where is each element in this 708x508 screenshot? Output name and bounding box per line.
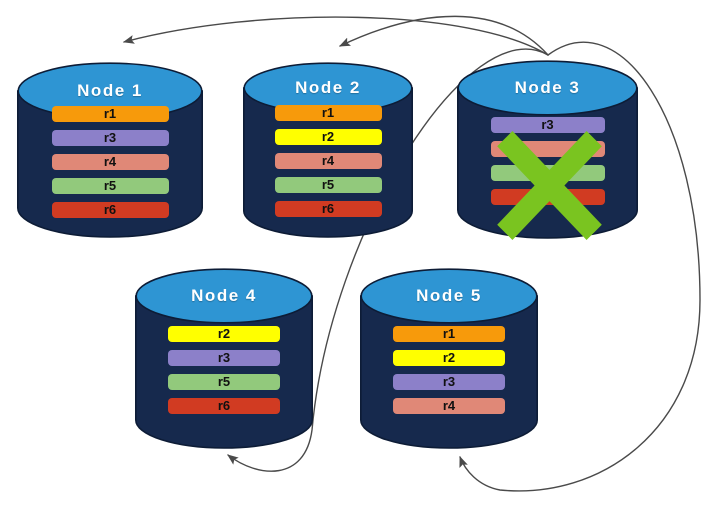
database-node-5[interactable]: Node 5r1r2r3r4	[360, 268, 538, 448]
record-label: r1	[104, 106, 116, 121]
record-label: r5	[104, 178, 116, 193]
node-title: Node 4	[135, 286, 313, 306]
record-label: r6	[218, 398, 230, 413]
record-label: r4	[322, 153, 334, 168]
record-bar[interactable]: r4	[275, 153, 382, 169]
record-label: r3	[443, 374, 455, 389]
record-label: r3	[541, 117, 553, 132]
record-bar[interactable]: r1	[393, 326, 505, 342]
record-bar[interactable]	[491, 189, 605, 205]
record-label: r2	[218, 326, 230, 341]
record-label: r2	[443, 350, 455, 365]
record-label: r6	[104, 202, 116, 217]
record-label: r1	[322, 105, 334, 120]
record-bar[interactable]: r2	[393, 350, 505, 366]
record-label: r2	[322, 129, 334, 144]
database-node-4[interactable]: Node 4r2r3r5r6	[135, 268, 313, 448]
record-bar[interactable]	[491, 165, 605, 181]
node-title: Node 1	[17, 81, 203, 101]
record-list: r1r3r4r5r6	[17, 106, 203, 218]
database-node-2[interactable]: Node 2r1r2r4r5r6	[243, 62, 413, 237]
record-bar[interactable]: r3	[168, 350, 280, 366]
record-label: r3	[218, 350, 230, 365]
record-label: r6	[322, 201, 334, 216]
database-node-1[interactable]: Node 1r1r3r4r5r6	[17, 62, 203, 237]
node-title: Node 3	[457, 78, 638, 98]
record-label: r5	[218, 374, 230, 389]
record-bar[interactable]: r3	[393, 374, 505, 390]
record-bar[interactable]: r5	[275, 177, 382, 193]
record-bar[interactable]: r5	[52, 178, 169, 194]
node-title: Node 5	[360, 286, 538, 306]
record-bar[interactable]: r1	[275, 105, 382, 121]
record-list: r1r2r4r5r6	[243, 105, 413, 217]
record-label: r5	[322, 177, 334, 192]
record-bar[interactable]: r2	[168, 326, 280, 342]
node-title: Node 2	[243, 78, 413, 98]
edge-node3-to-node1	[124, 17, 548, 55]
record-bar[interactable]: r6	[168, 398, 280, 414]
record-bar[interactable]: r2	[275, 129, 382, 145]
record-label: r3	[104, 130, 116, 145]
record-list: r3	[457, 117, 638, 205]
record-label: r1	[443, 326, 455, 341]
diagram-canvas: Node 1r1r3r4r5r6Node 2r1r2r4r5r6Node 3r3…	[0, 0, 708, 508]
record-bar[interactable]	[491, 141, 605, 157]
record-bar[interactable]: r3	[491, 117, 605, 133]
record-list: r1r2r3r4	[360, 326, 538, 414]
record-bar[interactable]: r4	[393, 398, 505, 414]
record-label: r4	[104, 154, 116, 169]
record-bar[interactable]: r1	[52, 106, 169, 122]
record-bar[interactable]: r4	[52, 154, 169, 170]
record-list: r2r3r5r6	[135, 326, 313, 414]
record-label: r4	[443, 398, 455, 413]
database-node-3[interactable]: Node 3r3	[457, 60, 638, 238]
record-bar[interactable]: r6	[52, 202, 169, 218]
record-bar[interactable]: r6	[275, 201, 382, 217]
record-bar[interactable]: r3	[52, 130, 169, 146]
record-bar[interactable]: r5	[168, 374, 280, 390]
edge-node3-to-node2	[340, 16, 548, 55]
